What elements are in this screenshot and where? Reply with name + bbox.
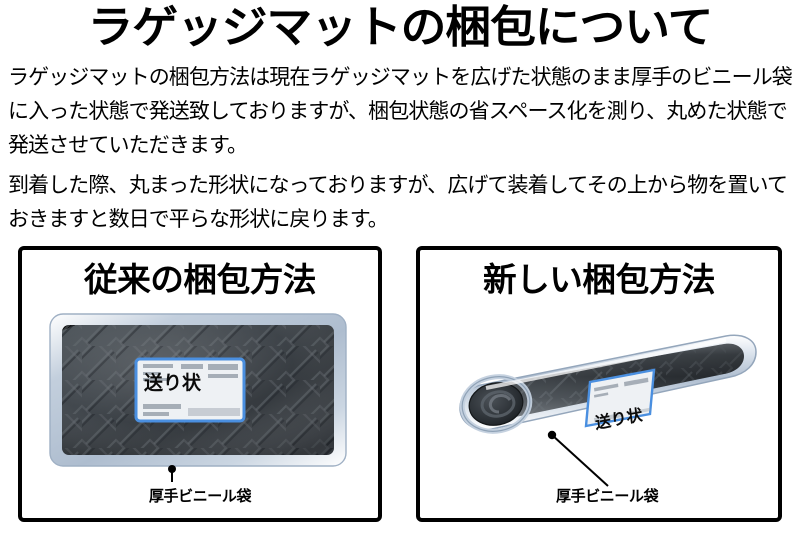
leader-line-rolled [548, 431, 608, 486]
panel-new-packing-method: 新しい梱包方法 [416, 246, 782, 522]
page-title: ラゲッジマットの梱包について [0, 2, 800, 54]
panel-heading-old: 従来の梱包方法 [18, 258, 381, 302]
panel-old-packing-method: 従来の梱包方法 [18, 246, 382, 522]
rolled-mat-svg [426, 308, 778, 493]
panel-heading-new: 新しい梱包方法 [416, 258, 781, 302]
panel-caption-old: 厚手ビニール袋 [22, 486, 378, 506]
flat-mat-svg [48, 312, 348, 482]
waybill-label-text-flat: 送り状 [144, 372, 201, 394]
intro-paragraph-2: 到着した際、丸まった形状になっておりますが、広げて装着してその上から物を置いてお… [8, 168, 796, 236]
leader-line-flat [168, 465, 176, 482]
intro-paragraph-1: ラゲッジマットの梱包方法は現在ラゲッジマットを広げた状態のまま厚手のビニール袋に… [8, 60, 796, 162]
panel-caption-new: 厚手ビニール袋 [420, 486, 778, 506]
rolled-mat-illustration: 送り状 [426, 308, 778, 493]
flat-mat-illustration: 送り状 [48, 312, 348, 482]
